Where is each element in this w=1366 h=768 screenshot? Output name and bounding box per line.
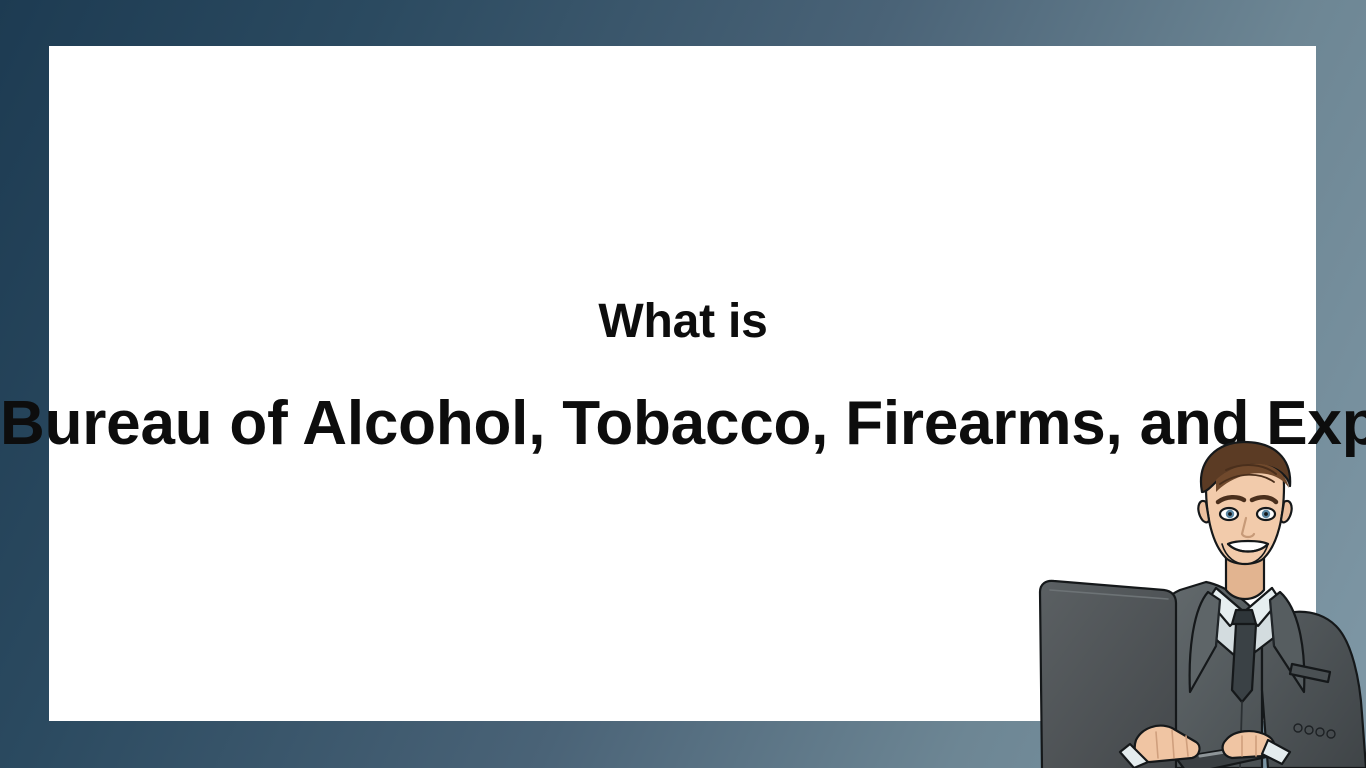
businessman-with-laptop-illustration [1030,440,1366,768]
presentation-slide: What is Bureau of Alcohol, Tobacco, Fire… [0,0,1366,768]
